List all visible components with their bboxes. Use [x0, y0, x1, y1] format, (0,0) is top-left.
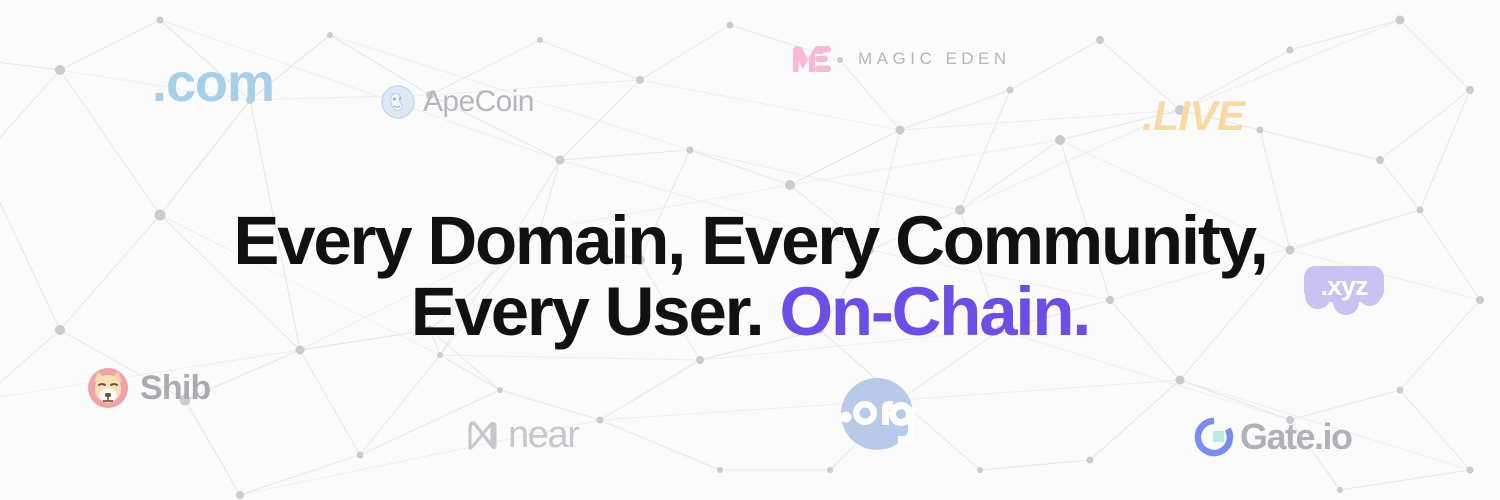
logo-apecoin: ApeCoin [381, 85, 534, 119]
logo-magic-eden: MAGIC EDEN [790, 44, 1011, 74]
logo-gate-io-wordmark: Gate.io [1240, 416, 1352, 458]
headline-line-1: Every Domain, Every Community, [0, 206, 1500, 276]
org-circle-icon: .org [838, 375, 916, 453]
near-n-icon [466, 419, 499, 452]
magic-eden-me-icon [790, 44, 834, 74]
logo-com: .com [152, 52, 274, 114]
headline-line-2-plain: Every User. [411, 273, 780, 350]
logo-shib-wordmark: Shib [140, 369, 210, 408]
logo-gate-io: Gate.io [1194, 416, 1352, 458]
logo-near-wordmark: near [508, 414, 578, 457]
gate-io-ring-icon [1194, 417, 1234, 457]
logo-live: .LIVE [1142, 92, 1245, 140]
logo-magic-eden-wordmark: MAGIC EDEN [858, 49, 1011, 69]
logo-com-wordmark: .com [152, 52, 274, 114]
logo-near: near [466, 414, 578, 457]
logo-live-wordmark: .LIVE [1142, 92, 1245, 140]
headline-accent-on-chain: On-Chain. [779, 273, 1089, 350]
hero-banner: Every Domain, Every Community, Every Use… [0, 0, 1500, 500]
logo-apecoin-wordmark: ApeCoin [423, 85, 534, 119]
logo-org: .org [838, 375, 916, 453]
headline: Every Domain, Every Community, Every Use… [0, 206, 1500, 347]
headline-line-2: Every User. On-Chain. [0, 277, 1500, 347]
apecoin-coin-icon [381, 85, 415, 119]
shiba-inu-face-icon [86, 366, 130, 410]
logo-shib: Shib [86, 366, 210, 410]
